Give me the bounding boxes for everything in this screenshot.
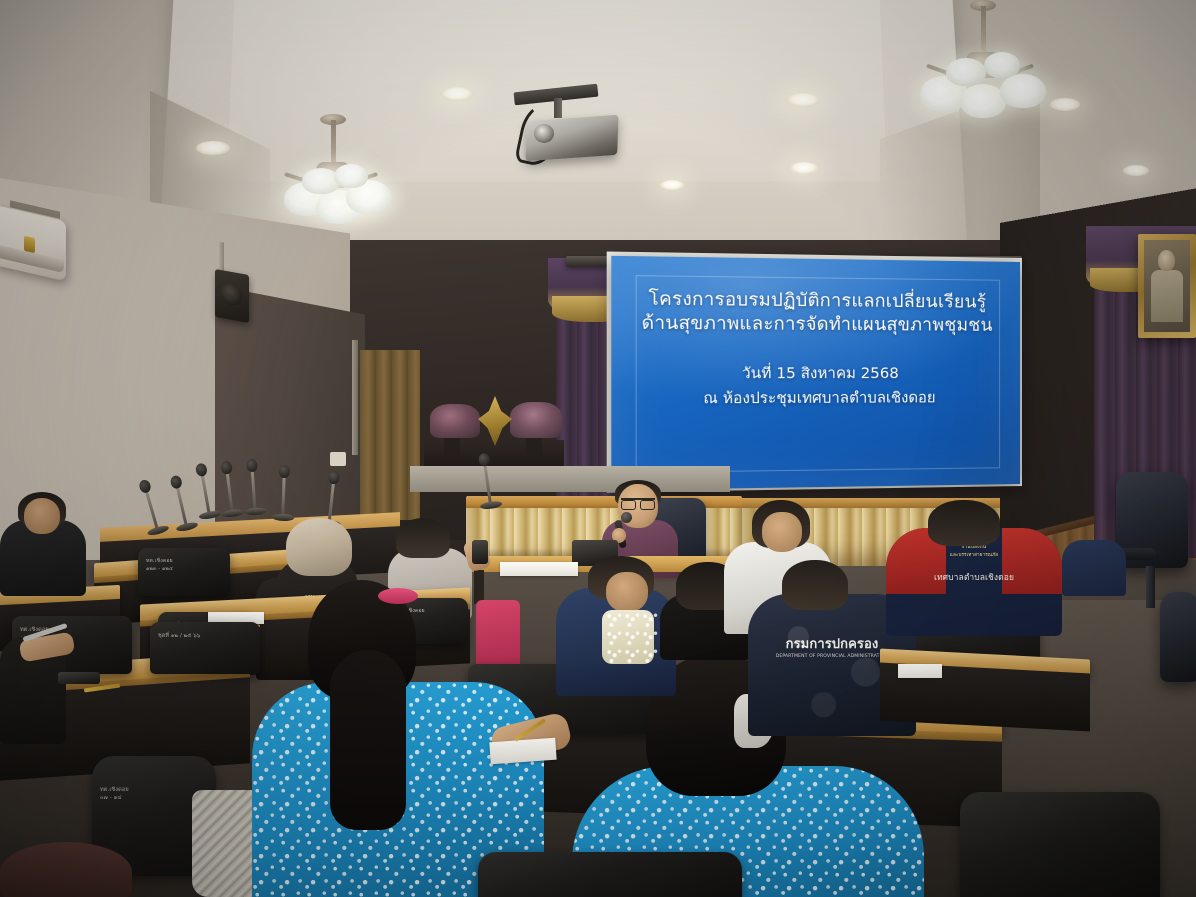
ceiling-projector	[514, 88, 634, 174]
slide-title-line-1: โครงการอบรมปฏิบัติการแลกเปลี่ยนเรียนรู้	[611, 287, 1020, 314]
chair[interactable]	[478, 852, 742, 897]
recessed-downlight	[196, 141, 230, 155]
projector-lens-icon	[534, 124, 554, 143]
chandelier-shade	[334, 164, 368, 188]
chandelier-shade	[946, 58, 986, 86]
slide-date-line: วันที่ 15 สิงหาคม 2568	[611, 363, 1020, 385]
executive-chair[interactable]	[1160, 592, 1196, 682]
meeting-room-photo: โครงการอบรมปฏิบัติการแลกเปลี่ยนเรียนรู้ …	[0, 0, 1196, 897]
jacket-text-line-3: เทศบาลตำบลเชิงดอย	[886, 572, 1062, 584]
attendee-head	[24, 498, 60, 534]
flower-chandelier	[908, 6, 1058, 136]
chair-label-text: ทต.เชิงดอย ๑๒๓ - ๑๒๔	[146, 558, 224, 574]
chandelier-shade	[1000, 74, 1046, 108]
chair-with-label[interactable]: ทต.เชิงดอย ๑๒๓ - ๑๒๔	[138, 548, 230, 596]
projection-screen-content: โครงการอบรมปฏิบัติการแลกเปลี่ยนเรียนรู้ …	[611, 256, 1020, 490]
recessed-downlight	[790, 162, 818, 174]
stage-curtain-left	[360, 350, 420, 520]
attendee-ponytail	[330, 650, 406, 830]
hair-tie	[378, 588, 418, 604]
recessed-downlight	[440, 87, 474, 101]
attendee-hair	[396, 518, 450, 558]
table-leg	[474, 570, 484, 604]
vase-stand	[444, 436, 460, 456]
chandelier-shade	[984, 52, 1020, 78]
chair-label-text: ชุดที่ ๑๒ / ๒๕ ๖๖	[158, 632, 254, 640]
chair-with-label[interactable]: ชุดที่ ๑๒ / ๒๕ ๖๖	[150, 622, 260, 674]
attendee-hair	[928, 500, 1000, 546]
slide-title-line-2: ด้านสุขภาพและการจัดทำแผนสุขภาพชุมชน	[611, 312, 1020, 338]
jacket-embroidery	[606, 612, 662, 664]
attendee-hair	[782, 560, 848, 610]
portrait-figure-body	[1151, 270, 1183, 322]
recessed-downlight	[660, 180, 684, 190]
smartphone-icon	[472, 540, 488, 564]
document-stack	[500, 562, 578, 576]
recessed-downlight	[1123, 165, 1149, 176]
attendee-torso	[1062, 540, 1126, 596]
chair-post	[1146, 566, 1155, 608]
slide-venue-line: ณ ห้องประชุมเทศบาลตำบลเชิงดอย	[611, 388, 1020, 411]
pink-bag	[476, 600, 520, 670]
document	[898, 664, 942, 678]
glasses-icon	[621, 498, 655, 506]
flower-vase	[430, 404, 480, 438]
ac-badge-icon	[24, 236, 35, 254]
stage-platform	[410, 466, 730, 492]
wall-conduit	[352, 340, 358, 455]
chandelier-chain	[331, 120, 336, 166]
flower-vase	[510, 402, 562, 438]
smartphone-icon	[58, 672, 100, 684]
headscarf	[286, 518, 352, 576]
attendee-head	[606, 572, 648, 612]
slide-text-block: โครงการอบรมปฏิบัติการแลกเปลี่ยนเรียนรู้ …	[611, 287, 1020, 410]
jacket-text-line-2: และบรรเทาสาธารณภัย	[886, 553, 1062, 560]
recessed-downlight	[786, 93, 820, 107]
microphone-head	[621, 512, 632, 523]
attendee-head-foreground	[0, 842, 132, 897]
chair[interactable]	[960, 792, 1160, 897]
worksheet-paper	[489, 738, 556, 765]
chandelier-chain	[981, 6, 986, 52]
portrait-figure-head	[1158, 250, 1175, 271]
wall-outlet-icon	[330, 452, 346, 466]
flower-chandelier	[268, 120, 398, 240]
attendee-head	[762, 512, 802, 552]
